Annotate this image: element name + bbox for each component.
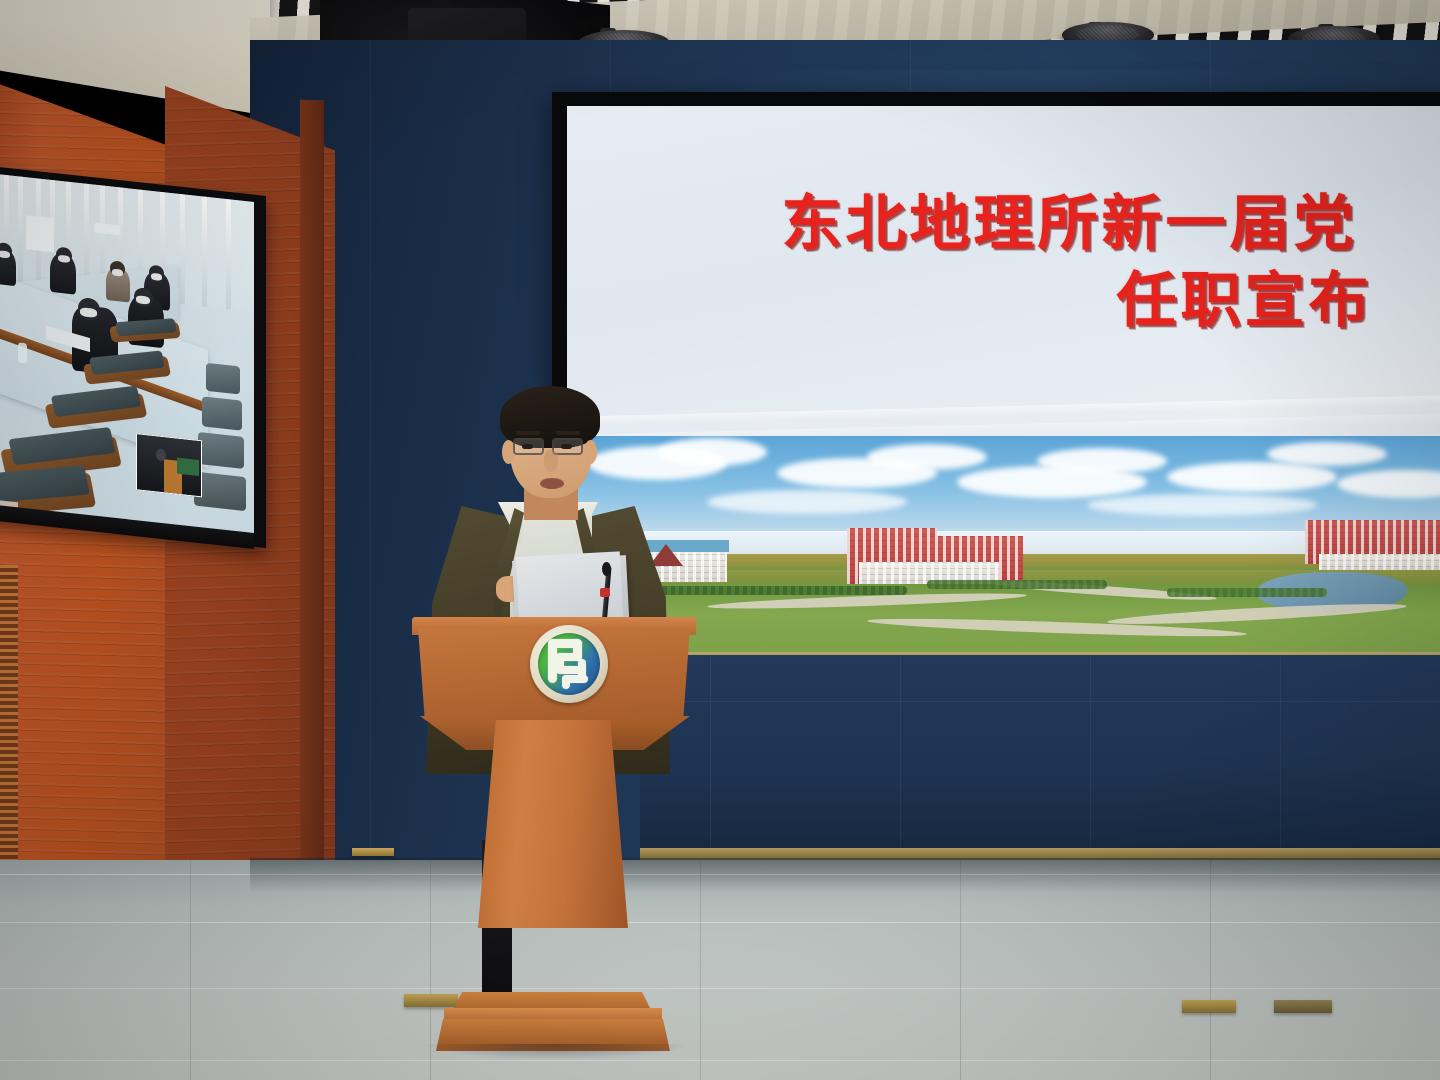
- wood-panel-corner-edge: [300, 100, 324, 946]
- panorama-building-red-right-base: [1319, 554, 1440, 570]
- presenter-ear-right: [584, 440, 597, 464]
- remote-water-bottle: [18, 342, 27, 363]
- floor-socket-cover-far: [352, 848, 394, 856]
- emblem-globe: [538, 633, 600, 695]
- lectern-floor-shadow: [420, 1044, 690, 1060]
- conference-hall-scene: 东北地理所新一届党 任职宣布: [0, 0, 1440, 1080]
- remote-attendee-mask: [151, 273, 162, 281]
- slide-title-line-2: 任职宣布: [1037, 263, 1440, 340]
- floor-socket-cover-right: [1274, 1000, 1332, 1013]
- pip-screen: [177, 457, 199, 475]
- remote-room-whiteboard: [26, 215, 54, 252]
- navy-wall-lower-panels: [640, 655, 1440, 855]
- monitor-picture-in-picture[interactable]: [136, 433, 202, 497]
- main-projection-screen: 东北地理所新一届党 任职宣布: [567, 106, 1440, 662]
- remote-stack-chair: [202, 396, 242, 430]
- presenter-nose: [544, 450, 558, 472]
- presenter-mouth: [540, 478, 564, 489]
- presenter-brow-right: [556, 431, 580, 435]
- video-conference-monitor[interactable]: [0, 173, 254, 536]
- slide-title-block: 东北地理所新一届党 任职宣布: [567, 186, 1440, 340]
- wall-floor-shadow: [250, 858, 1440, 892]
- floor-socket-cover-left: [404, 994, 458, 1007]
- microphone-indicator-band: [600, 588, 610, 597]
- floor-socket-cover-center: [1182, 1000, 1236, 1013]
- wood-wall-vent-grille: [0, 565, 18, 895]
- slide-title-line-1: 东北地理所新一届党: [687, 186, 1440, 263]
- lectern-column: [478, 716, 628, 928]
- institute-globe-emblem: [530, 625, 608, 703]
- presenter-eye-right: [561, 444, 572, 449]
- remote-stack-chair: [206, 363, 240, 395]
- presenter-eye-left: [522, 444, 533, 449]
- remote-attendee-mask: [112, 269, 123, 277]
- remote-stack-chair: [198, 432, 244, 469]
- microphone-capsule: [602, 562, 611, 576]
- tiled-floor: [0, 860, 1440, 1080]
- campus-panorama-photo: [567, 436, 1440, 662]
- remote-attendee-mask: [0, 250, 10, 258]
- presenter-brow-left: [516, 431, 540, 435]
